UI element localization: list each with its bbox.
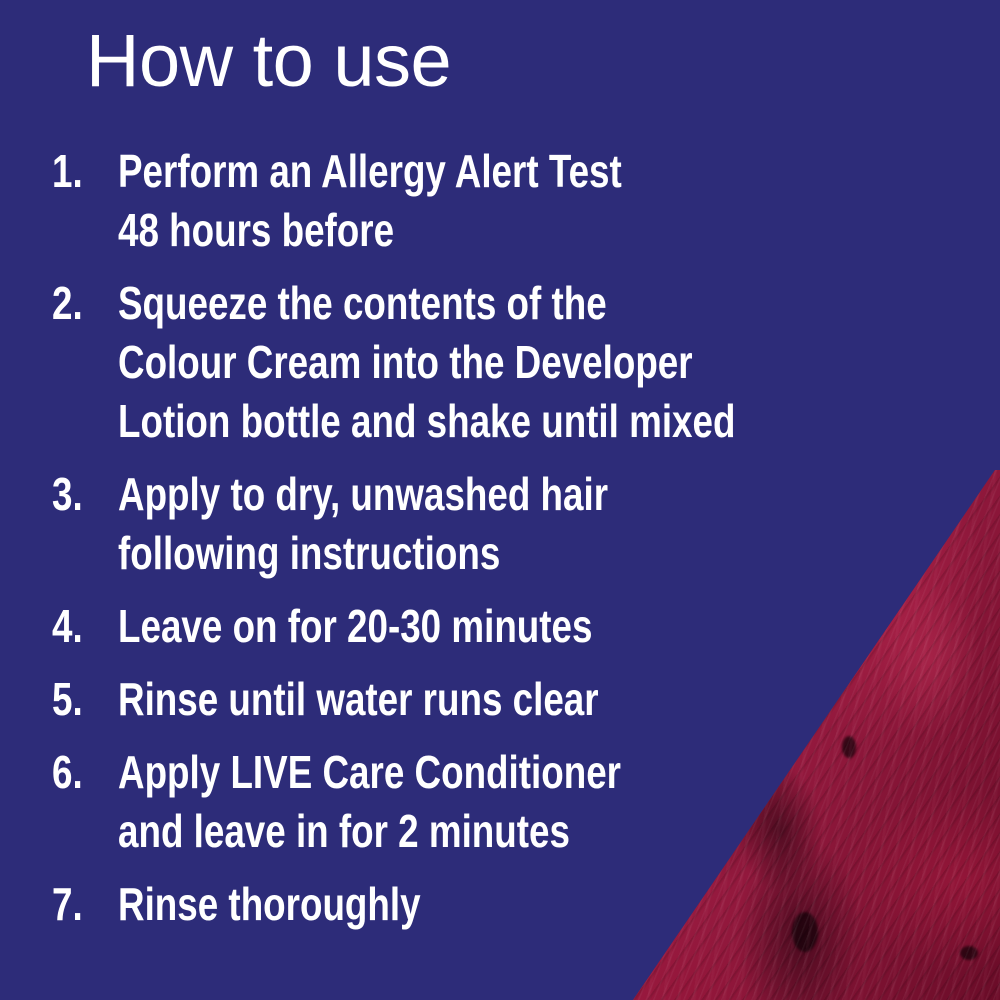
step-number: 2. xyxy=(52,274,105,333)
step-text-line: Lotion bottle and shake until mixed xyxy=(118,392,785,451)
step-number: 5. xyxy=(52,670,105,729)
step-text-line: Rinse until water runs clear xyxy=(118,670,785,729)
step-number: 4. xyxy=(52,597,105,656)
step-text: Rinse until water runs clear xyxy=(118,670,952,729)
instruction-step: 5.Rinse until water runs clear xyxy=(52,670,952,729)
step-text-line: following instructions xyxy=(118,524,785,583)
step-text-line: Squeeze the contents of the xyxy=(118,274,785,333)
instruction-step: 6.Apply LIVE Care Conditionerand leave i… xyxy=(52,743,952,861)
step-text: Leave on for 20-30 minutes xyxy=(118,597,952,656)
instruction-list: 1.Perform an Allergy Alert Test48 hours … xyxy=(52,142,952,948)
step-text-line: Apply LIVE Care Conditioner xyxy=(118,743,785,802)
page-title: How to use xyxy=(86,24,451,98)
step-text-line: and leave in for 2 minutes xyxy=(118,802,785,861)
step-text: Apply to dry, unwashed hairfollowing ins… xyxy=(118,465,952,583)
step-number: 3. xyxy=(52,465,105,524)
instruction-step: 2.Squeeze the contents of theColour Crea… xyxy=(52,274,952,451)
step-text: Rinse thoroughly xyxy=(118,875,952,934)
step-number: 1. xyxy=(52,142,105,201)
how-to-use-panel: How to use 1.Perform an Allergy Alert Te… xyxy=(0,0,1000,1000)
step-text: Squeeze the contents of theColour Cream … xyxy=(118,274,952,451)
step-text-line: Perform an Allergy Alert Test xyxy=(118,142,785,201)
step-text-line: 48 hours before xyxy=(118,201,785,260)
step-text: Apply LIVE Care Conditionerand leave in … xyxy=(118,743,952,861)
step-number: 7. xyxy=(52,875,105,934)
step-text-line: Leave on for 20-30 minutes xyxy=(118,597,785,656)
instruction-step: 3.Apply to dry, unwashed hairfollowing i… xyxy=(52,465,952,583)
instruction-step: 4.Leave on for 20-30 minutes xyxy=(52,597,952,656)
step-text: Perform an Allergy Alert Test48 hours be… xyxy=(118,142,952,260)
step-number: 6. xyxy=(52,743,105,802)
step-text-line: Rinse thoroughly xyxy=(118,875,785,934)
step-text-line: Apply to dry, unwashed hair xyxy=(118,465,785,524)
step-text-line: Colour Cream into the Developer xyxy=(118,333,785,392)
instruction-step: 7.Rinse thoroughly xyxy=(52,875,952,934)
instruction-step: 1.Perform an Allergy Alert Test48 hours … xyxy=(52,142,952,260)
